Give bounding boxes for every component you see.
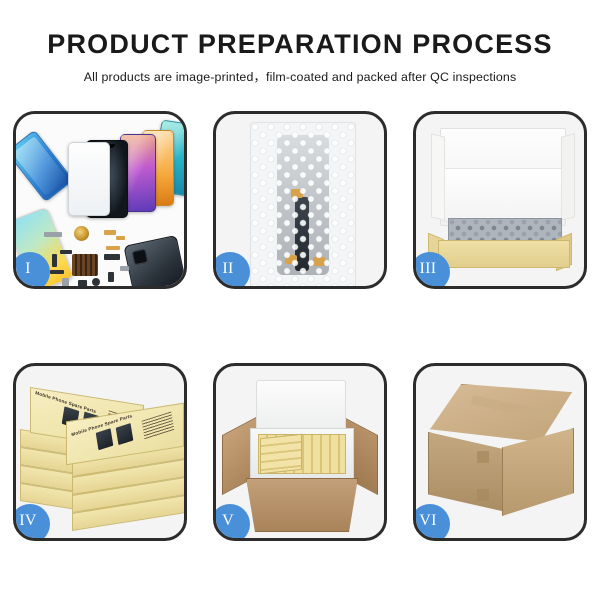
box-art-chip (96, 428, 114, 450)
carton-top-icon (430, 384, 572, 442)
carton-side-left-icon (428, 432, 506, 512)
part-icon (116, 236, 125, 240)
step-panel-1: I (13, 111, 187, 289)
steps-grid: I II (13, 111, 587, 541)
page-title: PRODUCT PREPARATION PROCESS (0, 0, 600, 58)
step-panel-4: Mobile Phone Spare Parts Mobile Phone Sp… (13, 363, 187, 541)
part-icon (50, 270, 64, 274)
step-badge-6: VI (416, 504, 450, 538)
step-1-illustration: I (16, 114, 184, 286)
carton-seam-mark (477, 489, 489, 501)
bubble-texture (251, 123, 355, 286)
page-subtitle: All products are image-printed，film-coat… (0, 58, 600, 85)
foam-padding-icon (444, 168, 562, 222)
step-panel-6: VI (413, 363, 587, 541)
step-5-illustration: V (216, 366, 384, 538)
step-badge-2: II (216, 252, 250, 286)
part-icon (92, 278, 100, 286)
part-icon (106, 246, 120, 250)
circuit-board-icon (72, 254, 98, 276)
carton-side-right-icon (502, 428, 574, 516)
part-icon (44, 232, 62, 237)
box-art-chip (116, 423, 134, 445)
part-icon (52, 254, 57, 267)
step-panel-3: III (413, 111, 587, 289)
step-3-illustration: III (416, 114, 584, 286)
step-panel-2: II (213, 111, 387, 289)
part-icon (108, 272, 114, 282)
step-badge-5: V (216, 504, 250, 538)
part-icon (104, 254, 120, 260)
box-art-lines (142, 411, 175, 440)
part-icon (104, 230, 116, 235)
step-panel-5: V (213, 363, 387, 541)
part-icon (60, 250, 72, 254)
packing-tape-icon (471, 395, 567, 424)
bubble-wrap-pouch-icon (250, 122, 356, 286)
header: PRODUCT PREPARATION PROCESS All products… (0, 0, 600, 85)
part-icon (78, 280, 87, 286)
coil-part-icon (74, 226, 89, 241)
carton-front-icon (246, 478, 358, 532)
box-stack-icon: Mobile Phone Spare Parts Mobile Phone Sp… (20, 382, 184, 530)
step-2-illustration: II (216, 114, 384, 286)
product-preparation-infographic: PRODUCT PREPARATION PROCESS All products… (0, 0, 600, 600)
carton-seam-mark (477, 451, 489, 463)
screen-glass-icon (68, 142, 110, 216)
step-4-illustration: Mobile Phone Spare Parts Mobile Phone Sp… (16, 366, 184, 538)
kraft-box-front-icon (438, 240, 570, 268)
step-6-illustration: VI (416, 366, 584, 538)
part-icon (120, 266, 129, 271)
part-icon (62, 278, 69, 286)
packed-boxes-icon (260, 434, 302, 474)
